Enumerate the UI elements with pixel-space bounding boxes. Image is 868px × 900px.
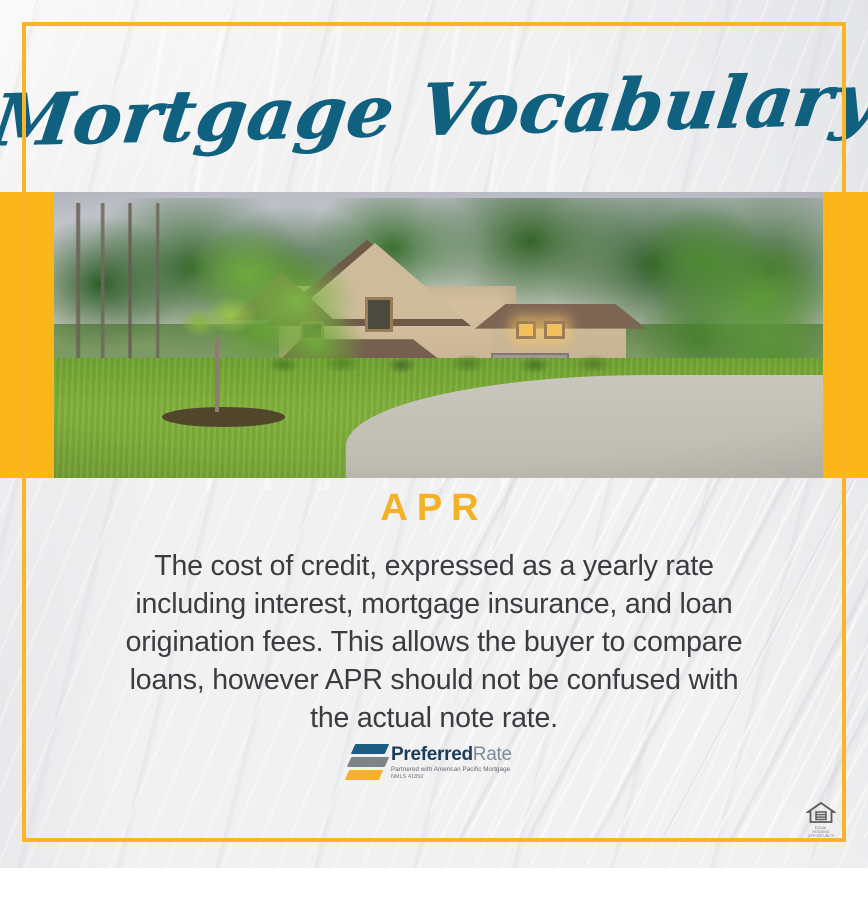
equal-housing-label: EQUAL HOUSING OPPORTUNITY <box>806 826 836 838</box>
vocabulary-definition: The cost of credit, expressed as a yearl… <box>110 547 758 737</box>
house-photo <box>54 192 823 478</box>
photo-vignette <box>54 192 823 478</box>
mortgage-vocabulary-poster: Mortgage Vocabulary <box>0 0 868 900</box>
logo-nmls: NMLS 41850 <box>391 774 512 781</box>
logo-bar-top <box>351 744 389 754</box>
logo-tagline: Partnered with American Pacific Mortgage <box>391 766 512 774</box>
logo-text-block: PreferredRate Partnered with American Pa… <box>389 742 512 781</box>
logo-wordmark: PreferredRate <box>391 745 512 765</box>
logo-bar-bottom <box>345 770 383 780</box>
equal-housing-opportunity-logo: EQUAL HOUSING OPPORTUNITY <box>806 800 836 832</box>
logo-bar-middle <box>347 757 389 767</box>
preferred-rate-mark-icon <box>347 742 389 784</box>
vocabulary-term: APR <box>0 487 868 530</box>
equal-housing-icon <box>806 800 836 825</box>
preferred-rate-logo: PreferredRate Partnered with American Pa… <box>347 742 522 788</box>
page-title: Mortgage Vocabulary <box>0 63 868 156</box>
logo-word-preferred: Preferred <box>391 744 473 765</box>
logo-word-rate: Rate <box>473 744 512 765</box>
title-area: Mortgage Vocabulary <box>22 30 846 190</box>
